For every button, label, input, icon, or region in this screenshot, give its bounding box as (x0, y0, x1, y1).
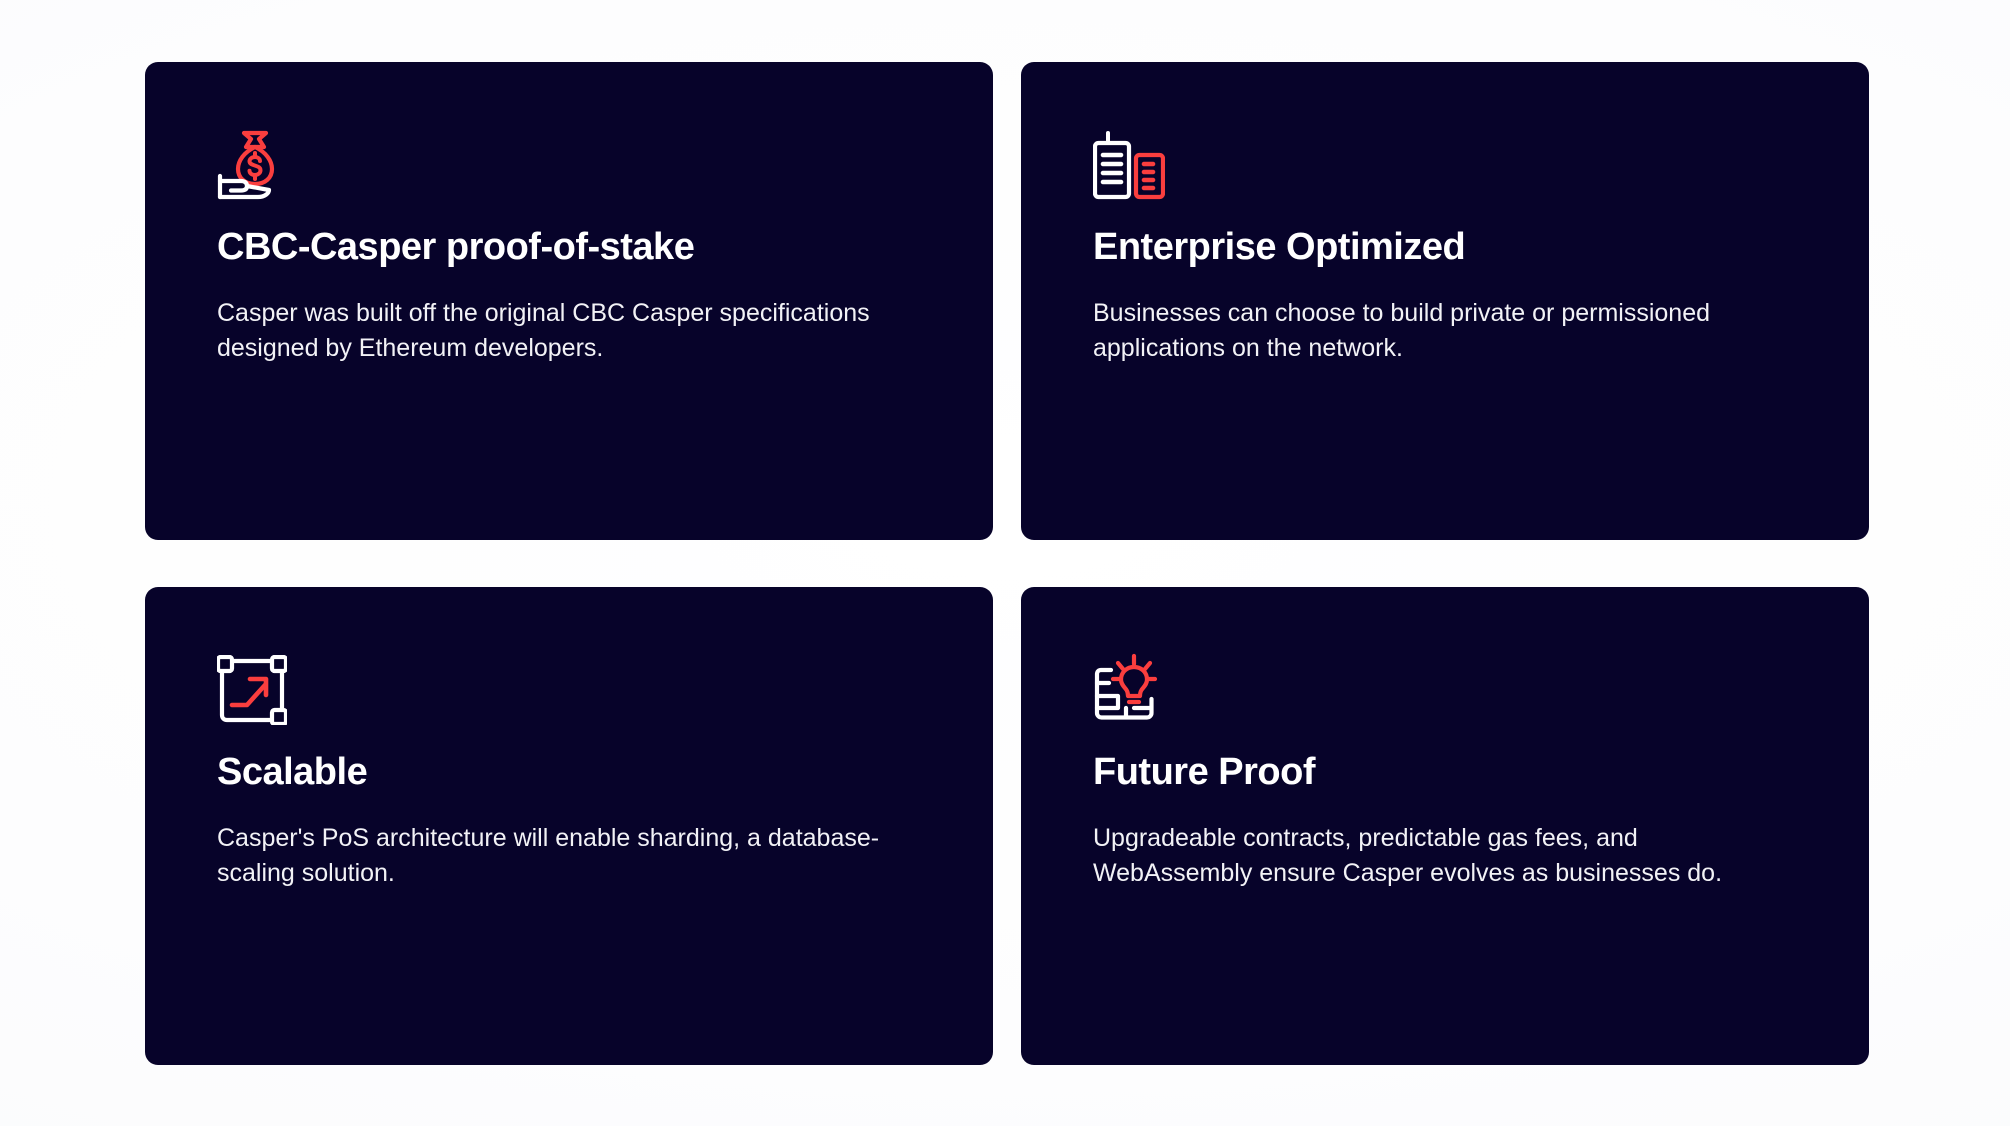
card-title: Enterprise Optimized (1093, 226, 1797, 270)
card-title: Future Proof (1093, 751, 1797, 795)
feature-card-cbc-casper[interactable]: CBC-Casper proof-of-stake Casper was bui… (145, 62, 993, 540)
card-title: CBC-Casper proof-of-stake (217, 226, 921, 270)
feature-cards-page: CBC-Casper proof-of-stake Casper was bui… (0, 0, 2010, 1126)
card-description: Casper's PoS architecture will enable sh… (217, 821, 897, 892)
feature-card-future-proof[interactable]: Future Proof Upgradeable contracts, pred… (1021, 587, 1869, 1065)
card-description: Businesses can choose to build private o… (1093, 296, 1773, 367)
lightbulb-circuit-icon (1093, 647, 1797, 725)
card-title: Scalable (217, 751, 921, 795)
scale-arrow-frame-icon (217, 647, 921, 725)
feature-card-scalable[interactable]: Scalable Casper's PoS architecture will … (145, 587, 993, 1065)
card-description: Upgradeable contracts, predictable gas f… (1093, 821, 1773, 892)
feature-card-grid: CBC-Casper proof-of-stake Casper was bui… (145, 62, 1869, 1065)
card-description: Casper was built off the original CBC Ca… (217, 296, 897, 367)
money-bag-hand-icon (217, 122, 921, 200)
feature-card-enterprise-optimized[interactable]: Enterprise Optimized Businesses can choo… (1021, 62, 1869, 540)
office-buildings-icon (1093, 122, 1797, 200)
